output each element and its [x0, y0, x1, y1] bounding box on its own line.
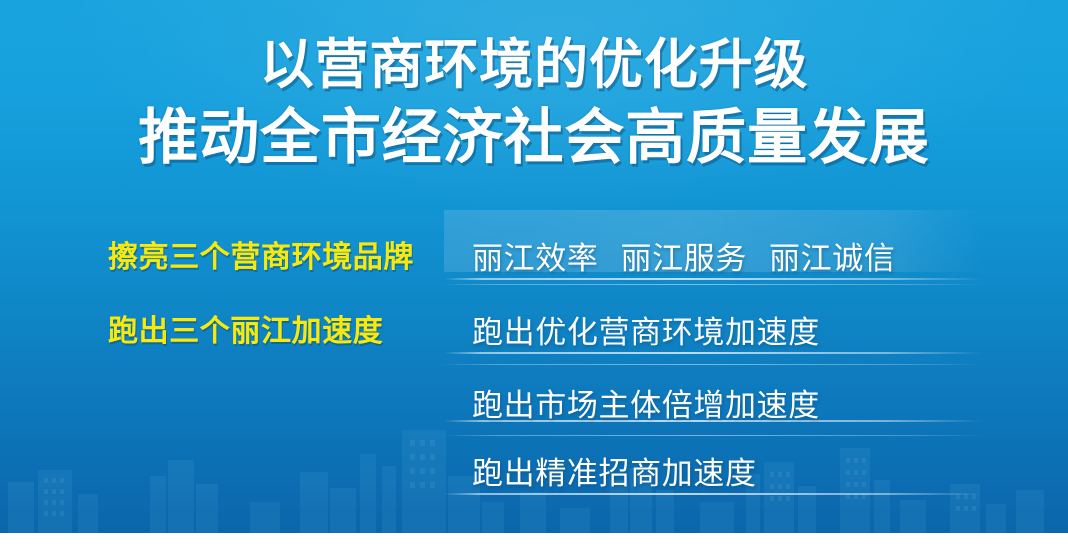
- headline-line-1: 以营商环境的优化升级: [0, 34, 1068, 97]
- divider-line-4: [444, 493, 982, 495]
- page-title: 以营商环境的优化升级 推动全市经济社会高质量发展: [0, 34, 1068, 172]
- speed-item-targeted-investment: 跑出精准招商加速度: [472, 448, 757, 493]
- brand-list-row: 丽江效率丽江服务丽江诚信: [472, 233, 895, 278]
- speed-item-business-environment: 跑出优化营商环境加速度: [472, 307, 820, 352]
- divider-line-2: [444, 352, 982, 354]
- category-label-speed: 跑出三个丽江加速度: [108, 306, 383, 350]
- brand-item-efficiency: 丽江效率: [472, 241, 598, 276]
- divider-line-1: [444, 278, 982, 280]
- divider-line-1b: [440, 284, 986, 285]
- category-label-brands: 擦亮三个营商环境品牌: [108, 232, 414, 276]
- poster-banner: 以营商环境的优化升级 推动全市经济社会高质量发展 擦亮三个营商环境品牌 跑出三个…: [0, 0, 1068, 550]
- brand-item-integrity: 丽江诚信: [769, 241, 895, 276]
- divider-line-2b: [440, 364, 986, 365]
- brand-item-service: 丽江服务: [620, 241, 746, 276]
- footer-strip: [0, 533, 1068, 550]
- headline-line-2: 推动全市经济社会高质量发展: [0, 103, 1068, 173]
- speed-item-market-entities: 跑出市场主体倍增加速度: [472, 380, 820, 425]
- divider-line-3b: [440, 435, 986, 436]
